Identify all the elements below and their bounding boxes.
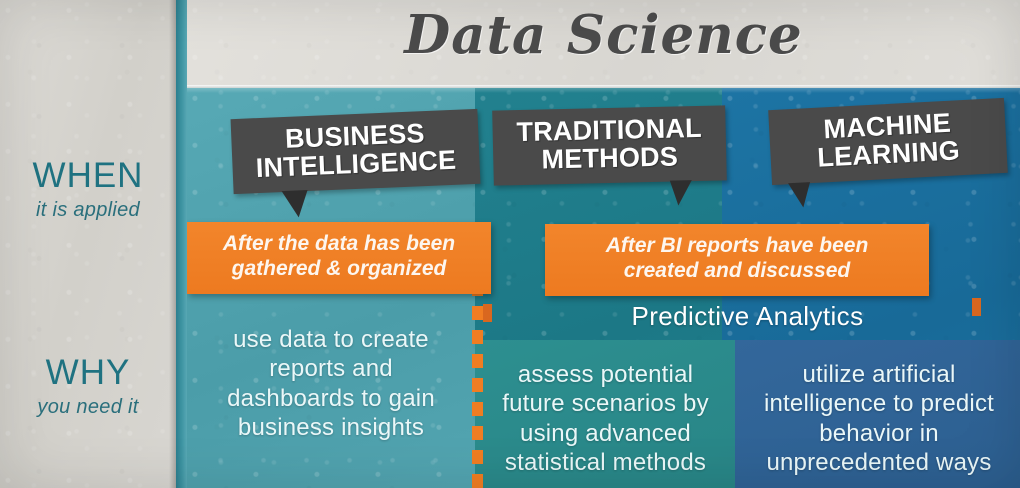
sidebar: WHEN it is applied WHY you need it xyxy=(0,0,176,488)
connector-stub-ml xyxy=(972,298,981,316)
banner-tm-line2: METHODS xyxy=(541,141,678,174)
banner-ml-text: MACHINE LEARNING xyxy=(768,98,1008,185)
sidebar-block-when: WHEN it is applied xyxy=(0,158,176,222)
banner-business-intelligence: BUSINESS INTELLIGENCE xyxy=(231,109,481,194)
caption-business-intelligence: After the data has been gathered & organ… xyxy=(187,222,491,294)
sidebar-when-title: WHEN xyxy=(0,158,176,195)
predictive-analytics-label: Predictive Analytics xyxy=(475,301,1020,332)
panels-top-sheen xyxy=(187,88,1020,93)
caption-tm-line2: created and discussed xyxy=(624,259,850,282)
connector-stub-bi xyxy=(483,304,492,322)
panels-area: Predictive Analytics BUSINESS INTELLIGEN… xyxy=(187,88,1020,488)
body-copy-machine-learning: utilize artificial intelligence to predi… xyxy=(743,360,1015,477)
caption-bi-line2: gathered & organized xyxy=(232,257,447,280)
body-copy-traditional-methods: assess potential future scenarios by usi… xyxy=(484,360,727,477)
header-band: Data Science xyxy=(187,0,1020,88)
banner-bi-tail-icon xyxy=(282,190,309,218)
banner-bi-text: BUSINESS INTELLIGENCE xyxy=(231,109,481,194)
banner-ml-tail-icon xyxy=(788,182,811,208)
banner-ml-line2: LEARNING xyxy=(817,135,961,172)
sidebar-when-subtitle: it is applied xyxy=(0,199,176,222)
banner-traditional-methods: TRADITIONAL METHODS xyxy=(492,105,727,185)
sidebar-why-title: WHY xyxy=(0,355,176,392)
banner-tm-text: TRADITIONAL METHODS xyxy=(492,105,727,185)
caption-tm-line1: After BI reports have been xyxy=(606,234,869,257)
banner-machine-learning: MACHINE LEARNING xyxy=(768,98,1008,185)
body-copy-business-intelligence: use data to create reports and dashboard… xyxy=(205,325,457,442)
caption-traditional-methods: After BI reports have been created and d… xyxy=(545,224,929,296)
sidebar-right-shadow xyxy=(169,0,176,488)
sidebar-block-why: WHY you need it xyxy=(0,355,176,419)
banner-tm-tail-icon xyxy=(670,180,693,205)
infographic-canvas: WHEN it is applied WHY you need it Data … xyxy=(0,0,1020,488)
sidebar-why-subtitle: you need it xyxy=(0,396,176,419)
page-title: Data Science xyxy=(187,4,1020,66)
sidebar-content-divider xyxy=(176,0,187,488)
caption-bi-line1: After the data has been xyxy=(223,232,455,255)
